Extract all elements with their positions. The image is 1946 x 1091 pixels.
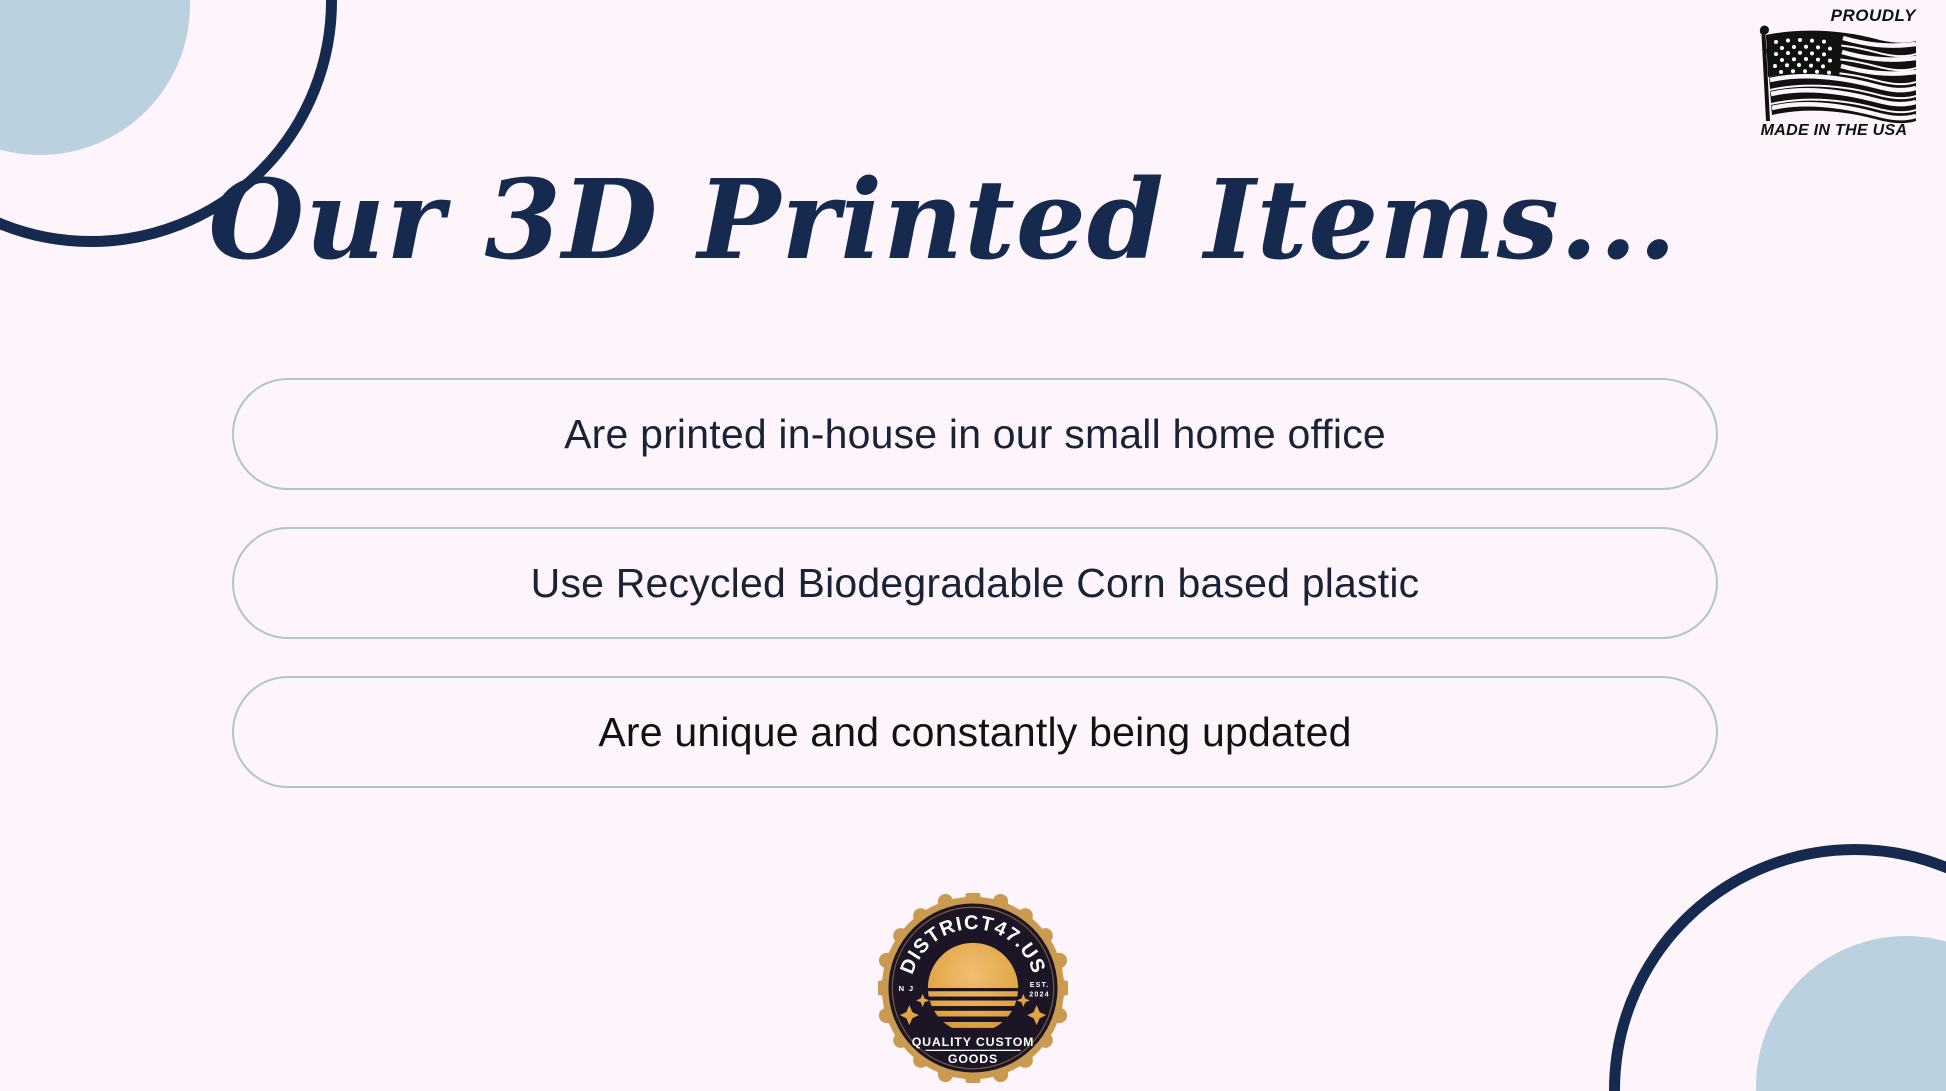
page-title: Our 3D Printed Items... — [0, 162, 1946, 278]
bullet-pill-1: Are printed in-house in our small home o… — [232, 378, 1718, 490]
brand-logo: DISTRICT47.US N J EST. 2024 QUALITY CUST… — [878, 893, 1068, 1083]
decor-arc-bottom-right — [1609, 844, 1946, 1091]
decor-circle-bottom-right — [1756, 936, 1946, 1091]
bullet-pill-list: Are printed in-house in our small home o… — [232, 378, 1718, 788]
slide-canvas: PROUDLY — [0, 0, 1946, 1091]
badge-left-mark: N J — [899, 984, 915, 993]
made-in-usa-badge: PROUDLY — [1744, 6, 1924, 158]
district47-badge-icon: DISTRICT47.US N J EST. 2024 QUALITY CUST… — [878, 893, 1068, 1083]
decor-circle-top-left — [0, 0, 190, 155]
bullet-pill-2-text: Use Recycled Biodegradable Corn based pl… — [531, 560, 1420, 607]
usa-badge-bottom-label: MADE IN THE USA — [1761, 122, 1908, 140]
badge-tagline-line-1: QUALITY CUSTOM — [912, 1035, 1035, 1049]
bullet-pill-1-text: Are printed in-house in our small home o… — [564, 411, 1386, 458]
bullet-pill-2: Use Recycled Biodegradable Corn based pl… — [232, 527, 1718, 639]
usa-flag-icon — [1746, 22, 1922, 126]
badge-right-mark-2: 2024 — [1029, 991, 1049, 999]
badge-right-mark-1: EST. — [1030, 981, 1050, 989]
badge-tagline-line-2: GOODS — [948, 1052, 998, 1066]
bullet-pill-3-text: Are unique and constantly being updated — [598, 709, 1351, 756]
bullet-pill-3: Are unique and constantly being updated — [232, 676, 1718, 788]
